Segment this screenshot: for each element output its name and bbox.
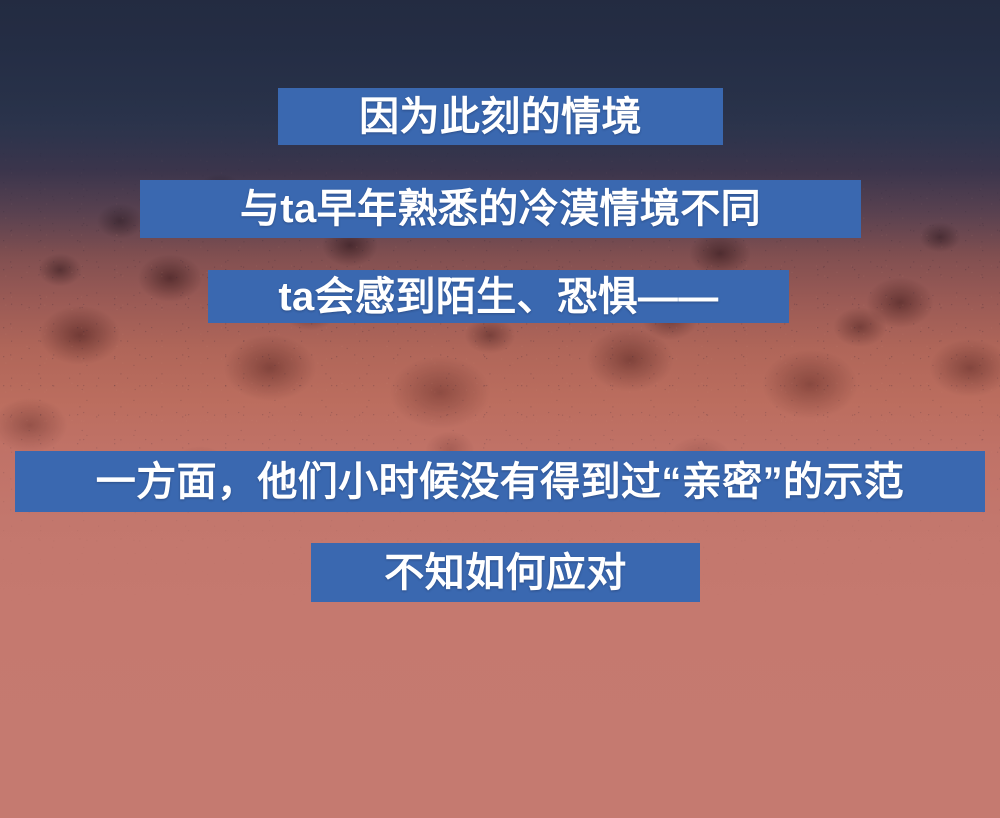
caption-box-3: ta会感到陌生、恐惧—— — [208, 270, 789, 323]
caption-box-1: 因为此刻的情境 — [278, 88, 723, 145]
caption-text-4: 一方面，他们小时候没有得到过“亲密”的示范 — [96, 462, 904, 502]
caption-text-3: ta会感到陌生、恐惧—— — [278, 277, 718, 317]
caption-text-5: 不知如何应对 — [384, 553, 626, 593]
caption-text-1: 因为此刻的情境 — [359, 97, 642, 137]
caption-box-5: 不知如何应对 — [311, 543, 700, 602]
poster-canvas: 因为此刻的情境 与ta早年熟悉的冷漠情境不同 ta会感到陌生、恐惧—— 一方面，… — [0, 0, 1000, 818]
caption-box-4: 一方面，他们小时候没有得到过“亲密”的示范 — [15, 451, 985, 512]
caption-text-2: 与ta早年熟悉的冷漠情境不同 — [240, 189, 761, 229]
caption-box-2: 与ta早年熟悉的冷漠情境不同 — [140, 180, 861, 238]
